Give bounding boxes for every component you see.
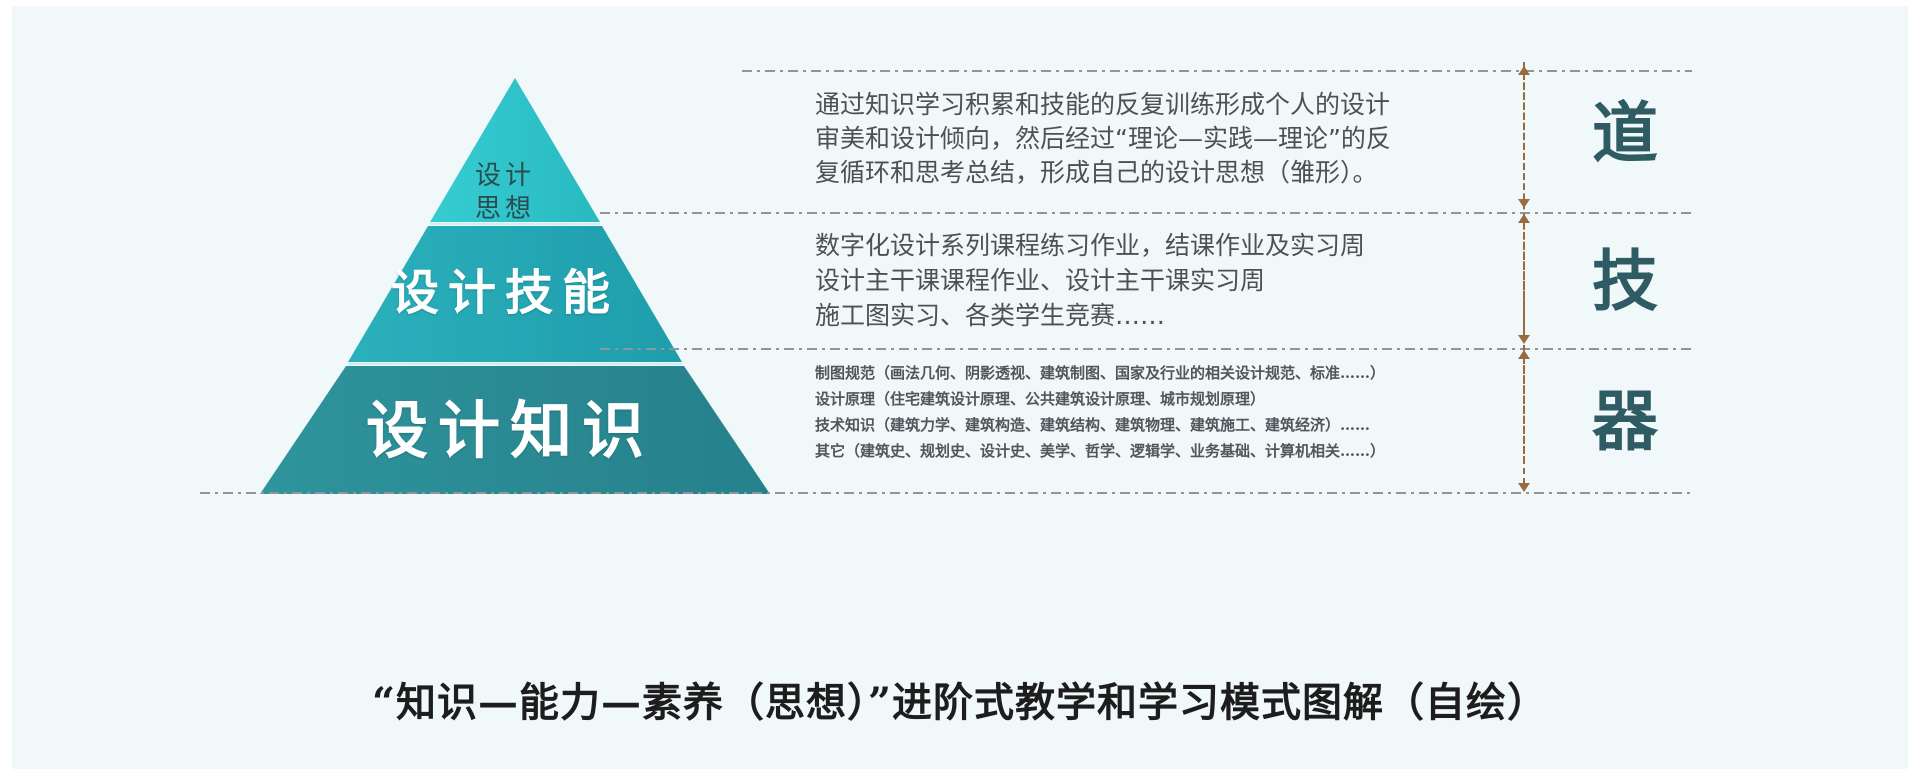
- frame-border-left: [0, 0, 12, 775]
- text-block-knowledge: 制图规范（画法几何、阴影透视、建筑制图、国家及行业的相关设计规范、标准……） 设…: [815, 360, 1385, 464]
- text-line: 制图规范（画法几何、阴影透视、建筑制图、国家及行业的相关设计规范、标准……）: [815, 360, 1385, 386]
- pyramid-tier-middle-shape: [348, 226, 682, 362]
- arrow-head-down-icon: [1518, 335, 1530, 344]
- text-line: 设计主干课课程作业、设计主干课实习周: [815, 263, 1365, 298]
- text-line: 技术知识（建筑力学、建筑构造、建筑结构、建筑物理、建筑施工、建筑经济）……: [815, 412, 1385, 438]
- right-glyph-ji: 技: [1560, 248, 1690, 314]
- text-block-skill: 数字化设计系列课程练习作业，结课作业及实习周 设计主干课课程作业、设计主干课实习…: [815, 228, 1365, 333]
- frame-border-top: [0, 0, 1920, 6]
- ruler-stem: [1523, 74, 1525, 200]
- pyramid-tier-top-shape: [430, 78, 600, 222]
- ruler-stem: [1523, 222, 1525, 336]
- text-line: 复循环和思考总结，形成自己的设计思想（雏形）。: [815, 156, 1391, 190]
- text-line: 审美和设计倾向，然后经过“理论—实践—理论”的反: [815, 122, 1391, 156]
- arrow-head-down-icon: [1518, 199, 1530, 208]
- separator-top: [742, 70, 1692, 72]
- vertical-ruler-segment-dao: [1517, 66, 1531, 208]
- text-line: 其它（建筑史、规划史、设计史、美学、哲学、逻辑学、业务基础、计算机相关……）: [815, 438, 1385, 464]
- pyramid-graphic: 设计 思想 设计技能 设计知识: [200, 70, 830, 500]
- pyramid-tier-bottom-shape: [260, 366, 770, 494]
- ruler-stem: [1523, 358, 1525, 484]
- figure-caption: “知识—能力—素养（思想）”进阶式教学和学习模式图解（自绘）: [0, 670, 1920, 728]
- right-glyph-qi: 器: [1560, 388, 1690, 454]
- right-glyph-dao: 道: [1560, 100, 1690, 166]
- arrow-head-down-icon: [1518, 483, 1530, 492]
- vertical-ruler-segment-ji: [1517, 214, 1531, 344]
- text-line: 施工图实习、各类学生竞赛……: [815, 298, 1365, 333]
- diagram-canvas: 设计 思想 设计技能 设计知识 通过知识学习积累和技能的反复训练形成个人的设计 …: [0, 0, 1920, 775]
- vertical-ruler-segment-qi: [1517, 350, 1531, 492]
- frame-border-right: [1908, 0, 1920, 775]
- text-line: 通过知识学习积累和技能的反复训练形成个人的设计: [815, 88, 1391, 122]
- frame-border-bottom: [0, 769, 1920, 775]
- pyramid-svg: [200, 70, 830, 500]
- text-block-thought: 通过知识学习积累和技能的反复训练形成个人的设计 审美和设计倾向，然后经过“理论—…: [815, 88, 1391, 190]
- text-line: 设计原理（住宅建筑设计原理、公共建筑设计原理、城市规划原理）: [815, 386, 1385, 412]
- text-line: 数字化设计系列课程练习作业，结课作业及实习周: [815, 228, 1365, 263]
- separator-bottom: [200, 492, 1692, 494]
